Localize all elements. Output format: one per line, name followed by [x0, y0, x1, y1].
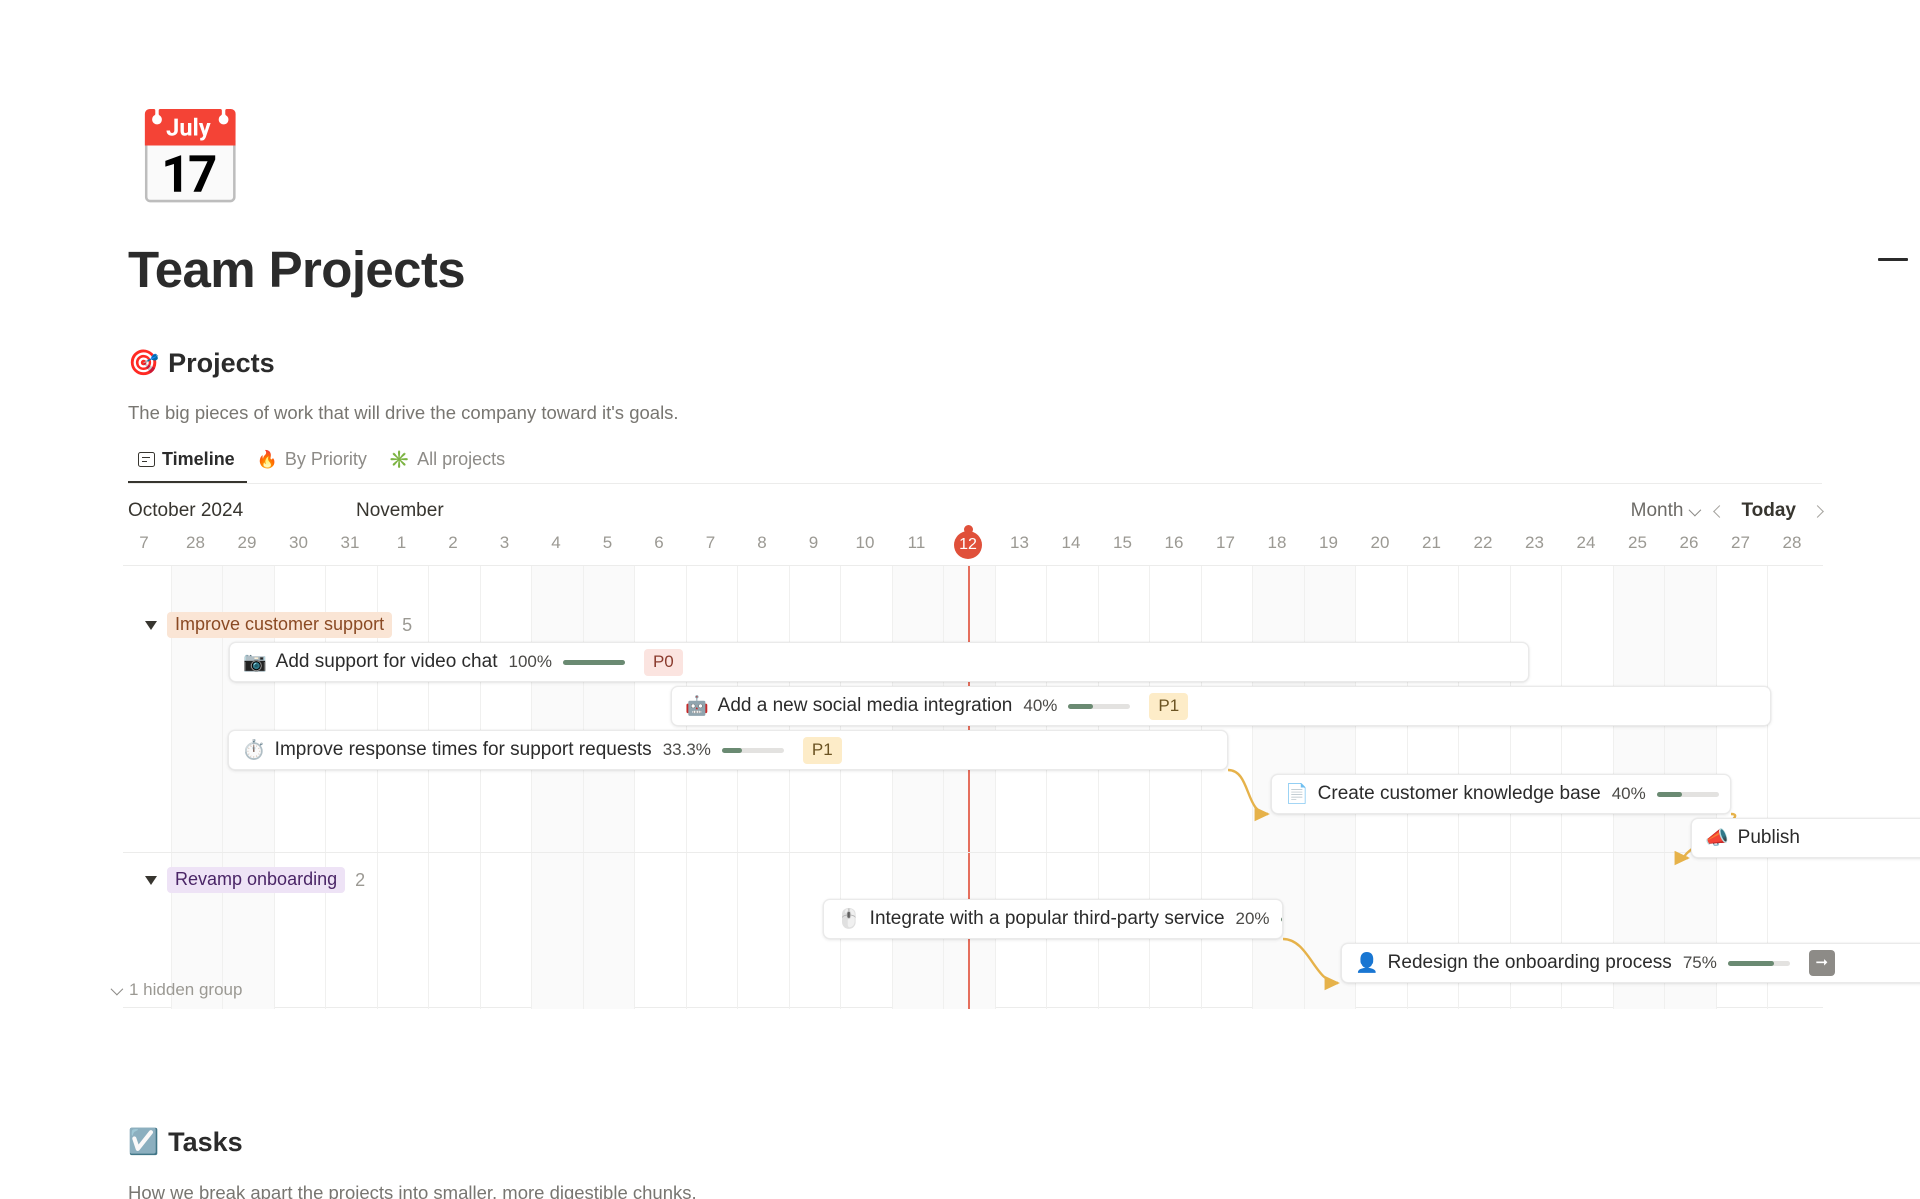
page-title: Team Projects	[128, 240, 465, 299]
timeline-day-label: 22	[1462, 533, 1504, 553]
timeline-bar[interactable]: 🤖Add a new social media integration40%P1	[671, 686, 1771, 726]
timeline-day-label: 2	[432, 533, 474, 553]
timeline-grid[interactable]: 7282930311234567891011121314151617181920…	[123, 533, 1823, 1008]
timeline-day-label: 29	[226, 533, 268, 553]
timeline-gridline	[943, 566, 944, 1009]
tasks-description: How we break apart the projects into sma…	[128, 1182, 697, 1199]
timeline-day-label: 21	[1411, 533, 1453, 553]
today-button[interactable]: Today	[1741, 500, 1796, 522]
group-collapse-triangle-icon[interactable]	[145, 876, 157, 885]
timeline-day-label: 27	[1720, 533, 1762, 553]
timeline-gridline	[1252, 566, 1253, 1009]
task-emoji-icon: 📣	[1705, 829, 1729, 848]
projects-description: The big pieces of work that will drive t…	[128, 402, 679, 424]
timeline-gridline	[1201, 566, 1202, 1009]
group-name[interactable]: Improve customer support	[167, 612, 392, 638]
task-progress-bar	[1068, 704, 1130, 709]
page-icon-calendar-icon[interactable]: 📅	[133, 108, 237, 212]
tasks-heading-label: Tasks	[168, 1127, 243, 1158]
timeline-day-label: 16	[1153, 533, 1195, 553]
timeline-day-label: 28	[175, 533, 217, 553]
timeline-gridline	[1098, 566, 1099, 1009]
hidden-group-toggle[interactable]: 1 hidden group	[111, 980, 242, 1000]
timeline-gridline	[480, 566, 481, 1009]
timeline-day-label: 23	[1514, 533, 1556, 553]
group-count: 5	[402, 615, 412, 636]
notion-page: 📅 Team Projects 🎯 Projects The big piece…	[0, 0, 1920, 1199]
zoom-level-select[interactable]: Month	[1631, 500, 1699, 522]
timeline-bar[interactable]: 📄Create customer knowledge base40%P1	[1271, 774, 1731, 814]
zoom-level-label: Month	[1631, 500, 1684, 522]
projects-heading: 🎯 Projects	[128, 348, 275, 379]
timeline-day-label: 7	[690, 533, 732, 553]
task-progress-bar	[1657, 792, 1719, 797]
timeline-day-header: 7282930311234567891011121314151617181920…	[123, 533, 1823, 565]
task-emoji-icon: ⏱️	[242, 741, 266, 760]
timeline-gridline	[995, 566, 996, 1009]
task-emoji-icon: 📄	[1285, 785, 1309, 804]
task-priority-badge: P0	[644, 649, 683, 676]
checkbox-icon: ☑️	[128, 1130, 159, 1155]
timeline-day-label: 4	[535, 533, 577, 553]
timeline-day-label: 18	[1256, 533, 1298, 553]
timeline-bar[interactable]: ⏱️Improve response times for support req…	[228, 730, 1228, 770]
tab-all-projects-label: All projects	[417, 449, 505, 470]
timeline-gridline	[428, 566, 429, 1009]
task-percent: 40%	[1612, 784, 1646, 804]
timeline-day-label: 3	[484, 533, 526, 553]
task-percent: 100%	[508, 652, 551, 672]
task-title: Integrate with a popular third-party ser…	[870, 908, 1225, 930]
timeline-day-label: 31	[329, 533, 371, 553]
task-title: Add a new social media integration	[718, 695, 1013, 717]
timeline-day-label: 24	[1565, 533, 1607, 553]
timeline-gridline	[1046, 566, 1047, 1009]
timeline-day-label: 28	[1771, 533, 1813, 553]
timeline-day-label: 1	[381, 533, 423, 553]
timeline-day-label: 8	[741, 533, 783, 553]
timeline-day-label: 17	[1205, 533, 1247, 553]
timeline-day-label: 25	[1617, 533, 1659, 553]
timeline-day-label: 15	[1102, 533, 1144, 553]
task-emoji-icon: 📷	[243, 653, 267, 672]
timeline-day-label: 5	[587, 533, 629, 553]
timeline-body[interactable]: Improve customer support5📷Add support fo…	[123, 565, 1823, 1008]
tab-timeline[interactable]: Timeline	[128, 445, 247, 483]
timeline-gridline	[583, 566, 584, 1009]
asterisk-icon: ✳️	[389, 451, 410, 468]
task-percent: 40%	[1023, 696, 1057, 716]
timeline-day-label: 14	[1050, 533, 1092, 553]
timeline-day-label: 11	[896, 533, 938, 553]
timeline-day-label: 26	[1668, 533, 1710, 553]
timeline-day-label: 9	[793, 533, 835, 553]
task-title: Redesign the onboarding process	[1388, 952, 1672, 974]
timeline-day-label: 13	[999, 533, 1041, 553]
task-progress-bar	[563, 660, 625, 665]
hidden-group-label: 1 hidden group	[129, 980, 242, 1000]
timeline-day-label: 10	[844, 533, 886, 553]
task-priority-badge: P1	[1149, 693, 1188, 720]
timeline-group-row[interactable]: Revamp onboarding2	[145, 867, 365, 893]
timeline-toolbar: Month Today	[1631, 500, 1822, 522]
timeline-bar[interactable]: 🖱️Integrate with a popular third-party s…	[823, 899, 1283, 939]
task-emoji-icon: 🤖	[685, 697, 709, 716]
timeline-gridline	[531, 566, 532, 1009]
timeline-bar[interactable]: 📣Publish	[1691, 818, 1920, 858]
task-percent: 33.3%	[663, 740, 711, 760]
timeline-day-label: 19	[1308, 533, 1350, 553]
tab-by-priority[interactable]: 🔥 By Priority	[247, 445, 379, 483]
task-progress-bar	[722, 748, 784, 753]
timeline-gridline	[1149, 566, 1150, 1009]
task-priority-badge: P1	[803, 737, 842, 764]
timeline-today-marker: 12	[954, 531, 982, 559]
month-label-october: October 2024	[128, 500, 243, 522]
task-emoji-icon: 🖱️	[837, 910, 861, 929]
prev-period-button[interactable]	[1714, 505, 1727, 518]
timeline-day-label: 20	[1359, 533, 1401, 553]
timeline-day-label: 7	[123, 533, 165, 553]
group-count: 2	[355, 870, 365, 891]
group-divider	[123, 852, 1823, 853]
next-period-button[interactable]	[1811, 505, 1824, 518]
target-icon: 🎯	[128, 351, 159, 376]
collapse-minus-icon[interactable]	[1878, 258, 1908, 261]
timeline-gridline	[789, 566, 790, 1009]
task-progress-bar	[1281, 917, 1283, 922]
month-label-november: November	[356, 500, 444, 522]
view-tabs: Timeline 🔥 By Priority ✳️ All projects	[128, 445, 517, 483]
task-percent: 20%	[1236, 909, 1270, 929]
task-title: Add support for video chat	[276, 651, 498, 673]
tab-timeline-label: Timeline	[162, 449, 235, 470]
group-name[interactable]: Revamp onboarding	[167, 867, 345, 893]
timeline-gridline	[634, 566, 635, 1009]
timeline-gridline	[737, 566, 738, 1009]
tab-by-priority-label: By Priority	[285, 449, 367, 470]
group-collapse-triangle-icon[interactable]	[145, 621, 157, 630]
tab-all-projects[interactable]: ✳️ All projects	[379, 445, 517, 483]
tabs-divider	[128, 483, 1822, 484]
timeline-gridline	[892, 566, 893, 1009]
timeline-day-label: 30	[278, 533, 320, 553]
task-progress-bar	[1728, 961, 1790, 966]
task-title: Create customer knowledge base	[1318, 783, 1601, 805]
tasks-heading: ☑️ Tasks	[128, 1127, 243, 1158]
timeline-today-line	[968, 566, 970, 1009]
task-emoji-icon: 👤	[1355, 954, 1379, 973]
task-overflow-arrow-button[interactable]: ➞	[1809, 950, 1835, 976]
timeline-bar[interactable]: 👤Redesign the onboarding process75%➞	[1341, 943, 1920, 983]
timeline-group-row[interactable]: Improve customer support5	[145, 612, 412, 638]
task-title: Publish	[1738, 827, 1800, 849]
projects-heading-label: Projects	[168, 348, 275, 379]
timeline-today-dot	[964, 525, 973, 534]
fire-icon: 🔥	[257, 451, 278, 468]
chevron-down-icon	[111, 982, 124, 995]
timeline-gridline	[686, 566, 687, 1009]
task-title: Improve response times for support reque…	[275, 739, 652, 761]
timeline-gridline	[840, 566, 841, 1009]
timeline-icon	[138, 452, 155, 467]
timeline-bar[interactable]: 📷Add support for video chat100%P0	[229, 642, 1529, 682]
task-percent: 75%	[1683, 953, 1717, 973]
chevron-down-icon	[1689, 503, 1702, 516]
timeline-day-label: 6	[638, 533, 680, 553]
